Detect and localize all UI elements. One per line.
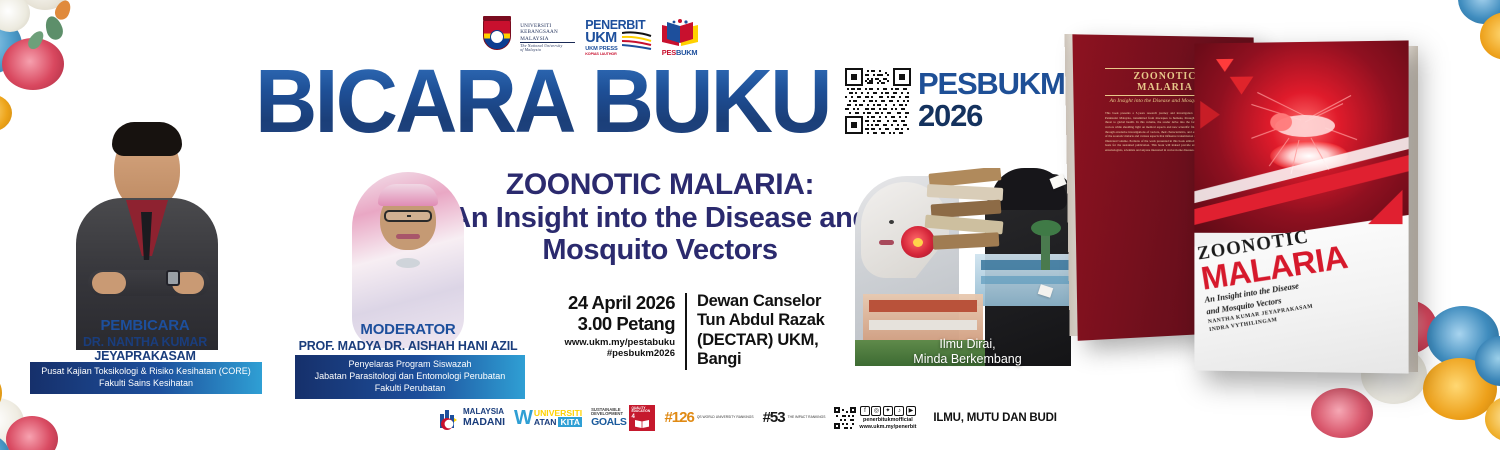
- venue-line-4: Bangi: [697, 350, 825, 369]
- moderator-affiliation-line-2: Jabatan Parasitologi dan Entomologi Peru…: [299, 371, 521, 383]
- event-details: 24 April 2026 3.00 Petang www.ukm.my/pes…: [525, 292, 865, 370]
- venue-line-3: (DECTAR) UKM,: [697, 331, 825, 350]
- moderator-affiliation: Penyelaras Program Siswazah Jabatan Para…: [295, 355, 525, 399]
- qs-rank-caption: QS WORLD UNIVERSITY RANKINGS: [697, 416, 754, 420]
- collage-caption-line-1: Ilmu Dirai,: [855, 337, 1080, 352]
- triangle-accent-1: [1216, 59, 1234, 72]
- watan-w: W: [514, 409, 533, 427]
- moderator-names: MODERATOR PROF. MADYA DR. AISHAH HANI AZ…: [288, 322, 528, 353]
- sdg-logo: SUSTAINABLE DEVELOPMENT GOALS QUALITY ED…: [591, 405, 655, 431]
- qr-code-icon[interactable]: [845, 68, 911, 134]
- watan-line-2: ATAN: [534, 417, 557, 427]
- social-handle: penerbitukmofficial: [863, 417, 913, 423]
- speaker-name-line-1: DR. NANTHA KUMAR: [20, 335, 270, 349]
- youtube-icon[interactable]: ▶: [906, 406, 916, 416]
- moderator-affiliation-line-1: Penyelaras Program Siswazah: [299, 359, 521, 371]
- sdg-goal-label: QUALITY EDUCATION: [631, 407, 653, 414]
- ukm-motto: ILMU, MUTU DAN BUDI: [933, 412, 1056, 424]
- sdg-line-3: GOALS: [591, 417, 626, 428]
- qs-rank-number: #126: [664, 411, 693, 425]
- instagram-icon[interactable]: ◎: [871, 406, 881, 416]
- speaker-portrait: [62, 120, 232, 350]
- speaker-role: PEMBICARA: [20, 318, 270, 335]
- facebook-icon[interactable]: f: [860, 406, 870, 416]
- penerbit-ukm-logo: PENERBIT UKM UKM PRESS KOPIAS I.AUTHOR: [585, 19, 649, 56]
- open-book-icon: [660, 19, 700, 47]
- speaker-affiliation: Pusat Kajian Toksikologi & Risiko Kesiha…: [30, 362, 262, 394]
- madani-icon: [438, 406, 460, 430]
- qr-code-icon[interactable]: [834, 407, 856, 429]
- event-divider: [685, 293, 687, 370]
- triangle-accent-2: [1230, 77, 1254, 95]
- main-title: BICARA BUKU: [255, 64, 831, 142]
- sdg-goal-4-tile: QUALITY EDUCATION 4: [629, 405, 655, 431]
- event-datetime: 24 April 2026 3.00 Petang www.ukm.my/pes…: [525, 292, 675, 370]
- social-links: f ◎ ✦ ♪ ▶ penerbitukmofficial www.ukm.my…: [859, 406, 916, 431]
- collage-caption-line-2: Minda Berkembang: [855, 352, 1080, 367]
- social-website[interactable]: www.ukm.my/penerbit: [859, 424, 916, 430]
- pesbukm-event-label: PESBUKM 2026: [918, 68, 1065, 131]
- social-icon-row: f ◎ ✦ ♪ ▶: [860, 406, 916, 416]
- venue-line-1: Dewan Canselor: [697, 292, 825, 311]
- moderator-role: MODERATOR: [288, 322, 528, 339]
- madani-wordmark: MALAYSIA MADANI: [463, 408, 505, 427]
- twitter-icon[interactable]: ✦: [883, 406, 893, 416]
- moderator-name-line-1: PROF. MADYA DR. AISHAH HANI AZIL: [288, 339, 528, 353]
- malaysia-madani-logo: MALAYSIA MADANI: [438, 406, 505, 430]
- impact-ranking: #53 THE IMPACT RANKINGS: [763, 411, 826, 425]
- collage-caption: Ilmu Dirai, Minda Berkembang: [855, 337, 1080, 368]
- event-banner: UNIVERSITI KEBANGSAAN MALAYSIA The Natio…: [0, 0, 1500, 450]
- speaker-card: PEMBICARA DR. NANTHA KUMAR JEYAPRAKASAM: [20, 120, 270, 400]
- impact-rank-number: #53: [763, 411, 785, 425]
- speaker-affiliation-line-2: Fakulti Sains Kesihatan: [34, 378, 258, 390]
- event-hashtag: #pesbukm2026: [525, 348, 675, 360]
- madani-line-2: MADANI: [463, 417, 505, 428]
- moderator-affiliation-line-3: Fakulti Perubatan: [299, 383, 521, 395]
- watan-wordmark: UNIVERSITI ATANKITA: [534, 409, 582, 427]
- event-name: PESBUKM: [918, 68, 1065, 100]
- book-swoosh-icon: [622, 29, 652, 51]
- madani-line-1: MALAYSIA: [463, 407, 504, 416]
- event-date: 24 April 2026: [525, 292, 675, 313]
- venue-line-2: Tun Abdul Razak: [697, 311, 825, 330]
- book-front-cover: ZOONOTIC MALARIA An Insight into the Dis…: [1194, 40, 1408, 373]
- speaker-affiliation-line-1: Pusat Kajian Toksikologi & Risiko Kesiha…: [34, 366, 258, 378]
- speaker-name-line-2: JEYAPRAKASAM: [20, 349, 270, 363]
- impact-rank-caption: THE IMPACT RANKINGS: [788, 416, 826, 420]
- book-mockup: ZOONOTIC MALARIA An Insight into the Dis…: [1065, 24, 1485, 424]
- event-url[interactable]: www.ukm.my/pestabuku: [525, 337, 675, 349]
- sdg-book-icon: [635, 419, 649, 429]
- qs-world-ranking: #126 QS WORLD UNIVERSITY RANKINGS: [664, 411, 753, 425]
- tiktok-icon[interactable]: ♪: [894, 406, 904, 416]
- event-venue: Dewan Canselor Tun Abdul Razak (DECTAR) …: [697, 292, 825, 370]
- speaker-names: PEMBICARA DR. NANTHA KUMAR JEYAPRAKASAM: [20, 318, 270, 363]
- event-time: 3.00 Petang: [525, 313, 675, 334]
- ukm-crest-wordmark: UNIVERSITI KEBANGSAAN MALAYSIA The Natio…: [520, 23, 575, 53]
- sdg-wordmark: SUSTAINABLE DEVELOPMENT GOALS: [591, 408, 626, 428]
- event-year: 2026: [918, 100, 1065, 132]
- universiti-watan-kita-logo: W UNIVERSITI ATANKITA: [514, 409, 582, 427]
- triangle-accent-3: [1200, 101, 1220, 129]
- footer-logo-row: MALAYSIA MADANI W UNIVERSITI ATANKITA SU…: [438, 398, 1057, 438]
- watan-line-3: KITA: [558, 417, 581, 427]
- social-block: f ◎ ✦ ♪ ▶ penerbitukmofficial www.ukm.my…: [834, 406, 916, 431]
